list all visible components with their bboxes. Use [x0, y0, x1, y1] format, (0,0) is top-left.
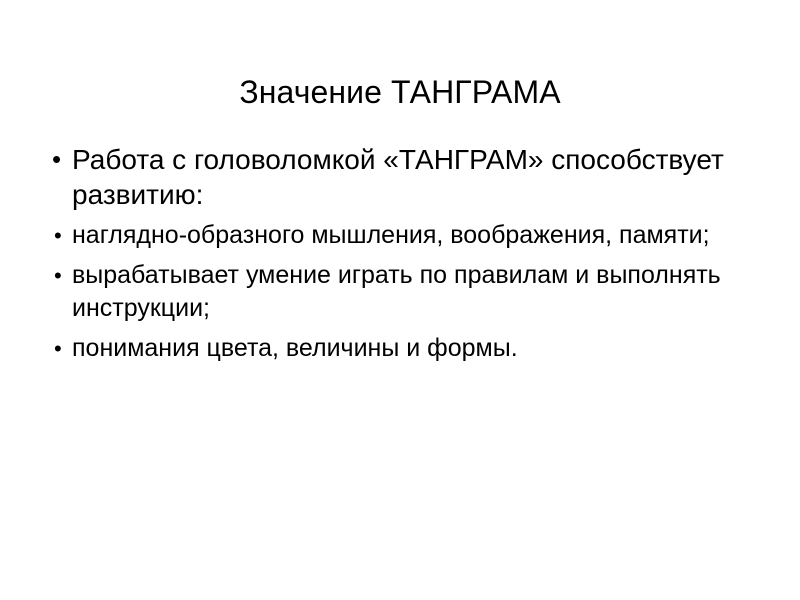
bullet-point-icon: •: [54, 219, 62, 252]
list-item: • Работа с головоломкой «ТАНГРАМ» способ…: [48, 142, 764, 212]
bullet-point-icon: •: [54, 332, 62, 365]
list-item: • наглядно-образного мышления, воображен…: [48, 219, 764, 252]
page-title: Значение ТАНГРАМА: [0, 73, 800, 111]
list-item: • вырабатывает умение играть по правилам…: [48, 259, 764, 325]
list-item-text: вырабатывает умение играть по правилам и…: [72, 259, 764, 325]
list-item: • понимания цвета, величины и формы.: [48, 332, 764, 365]
presentation-slide: Значение ТАНГРАМА • Работа с головоломко…: [0, 0, 800, 600]
list-item-text: Работа с головоломкой «ТАНГРАМ» способст…: [72, 142, 764, 212]
bullet-point-icon: •: [54, 259, 62, 292]
list-item-text: наглядно-образного мышления, воображения…: [72, 219, 764, 252]
bullet-list: • Работа с головоломкой «ТАНГРАМ» способ…: [48, 142, 764, 365]
bullet-point-icon: •: [52, 142, 61, 177]
list-item-text: понимания цвета, величины и формы.: [72, 332, 764, 365]
